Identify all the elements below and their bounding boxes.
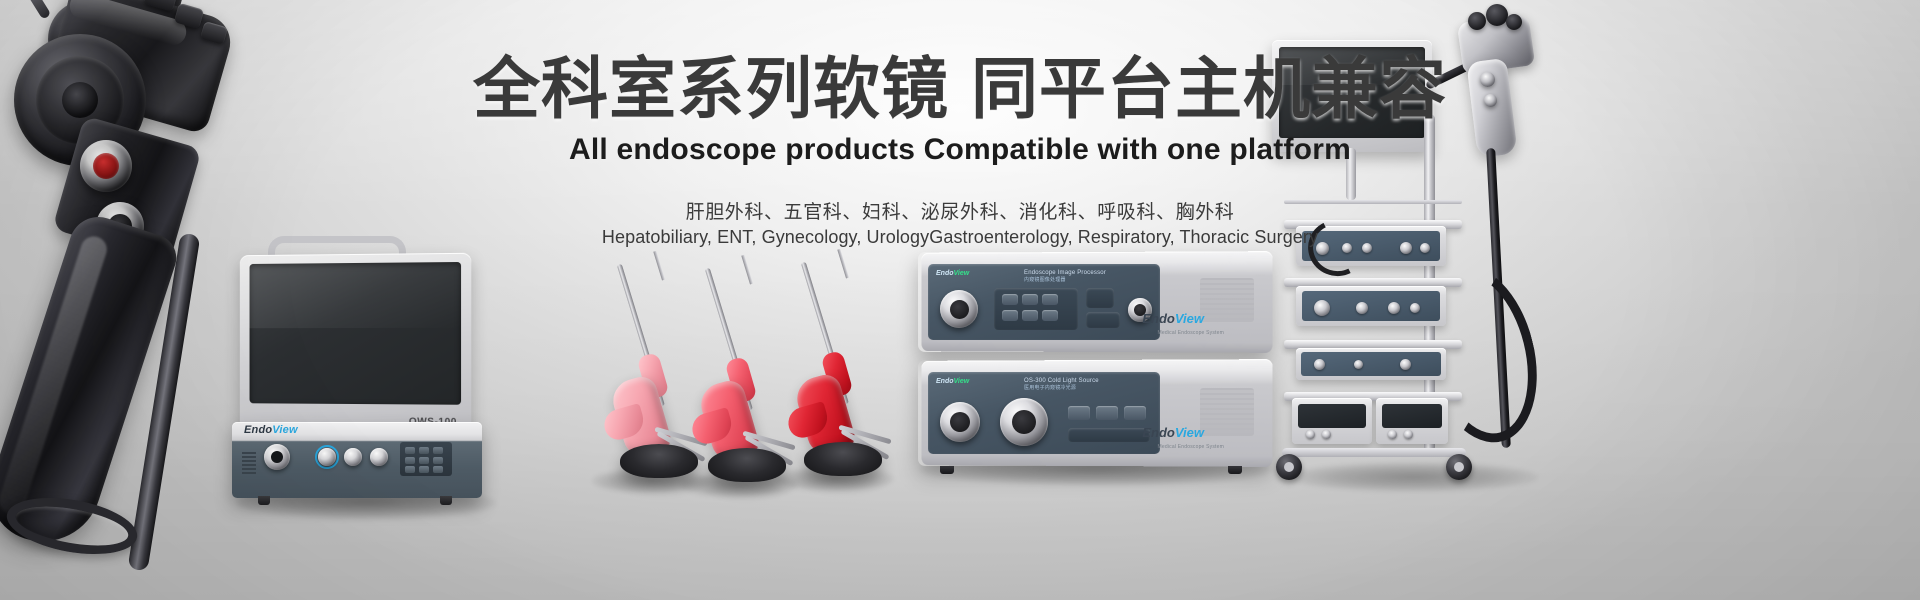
cart-device-4a [1292, 398, 1372, 444]
processor-subtitle-bottom: Medical Endoscope System [1158, 444, 1225, 450]
processor-title-top: Endoscope Image Processor 内窥镜图像处理器 [1024, 270, 1106, 283]
workstation-foot-right [440, 496, 452, 505]
cart-caster-right [1446, 454, 1472, 480]
flexible-scope-distal-curve [1406, 254, 1554, 455]
processor-key [1002, 310, 1018, 321]
lightsource-indicator-strip [1068, 428, 1150, 442]
brand-prefix: Endo [936, 270, 954, 277]
instrument-tip-2 [741, 255, 753, 285]
brand-suffix: View [954, 378, 970, 385]
image-processor-unit: EndoView Endoscope Image Processor 内窥镜图像… [918, 252, 1270, 352]
lightsource-brightness-dial [1000, 398, 1048, 446]
brand-prefix: Endo [1142, 425, 1175, 440]
instrument-stand-2 [708, 448, 786, 482]
headline-part-2: 同平台主机兼容 [971, 52, 1447, 127]
department-list-cn: 肝胆外科、五官科、妇科、泌尿外科、消化科、呼吸科、胸外科 [0, 197, 1920, 224]
department-list-en: Hepatobiliary, ENT, Gynecology, UrologyG… [0, 227, 1920, 248]
processor-brand-bottom: EndoView [936, 378, 969, 385]
lightsource-key-3 [1124, 406, 1146, 420]
processor-vent-bottom [1200, 388, 1254, 436]
lightsource-key-2 [1096, 406, 1118, 420]
processor-usb-top [1086, 312, 1120, 328]
brand-prefix: Endo [936, 378, 954, 385]
workstation-knob-2 [318, 448, 336, 466]
scope-lever-1 [23, 0, 52, 20]
workstation-knob-4 [370, 448, 388, 466]
processor-scope-socket-top [940, 290, 978, 328]
workstation-keypad [400, 442, 452, 476]
processor-display-top [1086, 288, 1114, 308]
cart-caster-left [1276, 454, 1302, 480]
scope-base-ring [2, 489, 141, 563]
brand-prefix: Endo [1142, 311, 1175, 326]
flexible-scope-control-knobs [1468, 4, 1522, 36]
instrument-tip-1 [653, 251, 665, 281]
processor-vent-top [1200, 278, 1254, 322]
headline-part-1: 全科室系列软镜 [473, 52, 949, 127]
laparoscopic-instrument-red [780, 256, 920, 486]
processor-key [1042, 310, 1058, 321]
instrument-stand-3 [804, 442, 882, 476]
brand-suffix: View [1175, 425, 1204, 440]
processor-title-bottom: OS-300 Cold Light Source 医用电子内窥镜冷光源 [1024, 378, 1099, 391]
processor-front-panel-top: EndoView Endoscope Image Processor 内窥镜图像… [928, 264, 1160, 340]
processor-stack: EndoView Endoscope Image Processor 内窥镜图像… [918, 252, 1276, 472]
lightsource-key-1 [1068, 406, 1090, 420]
processor-key [1022, 310, 1038, 321]
processor-logo-top: EndoView [1142, 311, 1204, 326]
processor-front-panel-bottom: EndoView OS-300 Cold Light Source 医用电子内窥… [928, 372, 1160, 454]
processor-logo-bottom: EndoView [1142, 425, 1204, 440]
processor-foot-right [1228, 466, 1242, 474]
banner-text-block: 全科室系列软镜同平台主机兼容 All endoscope products Co… [0, 52, 1920, 248]
brand-suffix: View [1175, 311, 1204, 326]
banner-subheadline: All endoscope products Compatible with o… [0, 133, 1920, 167]
brand-suffix: View [954, 270, 970, 277]
cold-light-source-unit: EndoView OS-300 Cold Light Source 医用电子内窥… [918, 360, 1270, 466]
processor-key [1022, 294, 1038, 305]
banner-stage: OWS-100 EndoView [0, 0, 1920, 600]
processor-brand-top: EndoView [936, 270, 969, 277]
processor-subtitle-top: Medical Endoscope System [1158, 330, 1225, 336]
lightsource-scope-socket [940, 402, 980, 442]
workstation-knob-3 [344, 448, 362, 466]
instrument-tip-3 [837, 249, 849, 279]
cart-base-frame [1282, 448, 1466, 457]
processor-key [1042, 294, 1058, 305]
processor-key [1002, 294, 1018, 305]
processor-foot-left [940, 466, 954, 474]
banner-headline: 全科室系列软镜同平台主机兼容 [0, 52, 1920, 127]
